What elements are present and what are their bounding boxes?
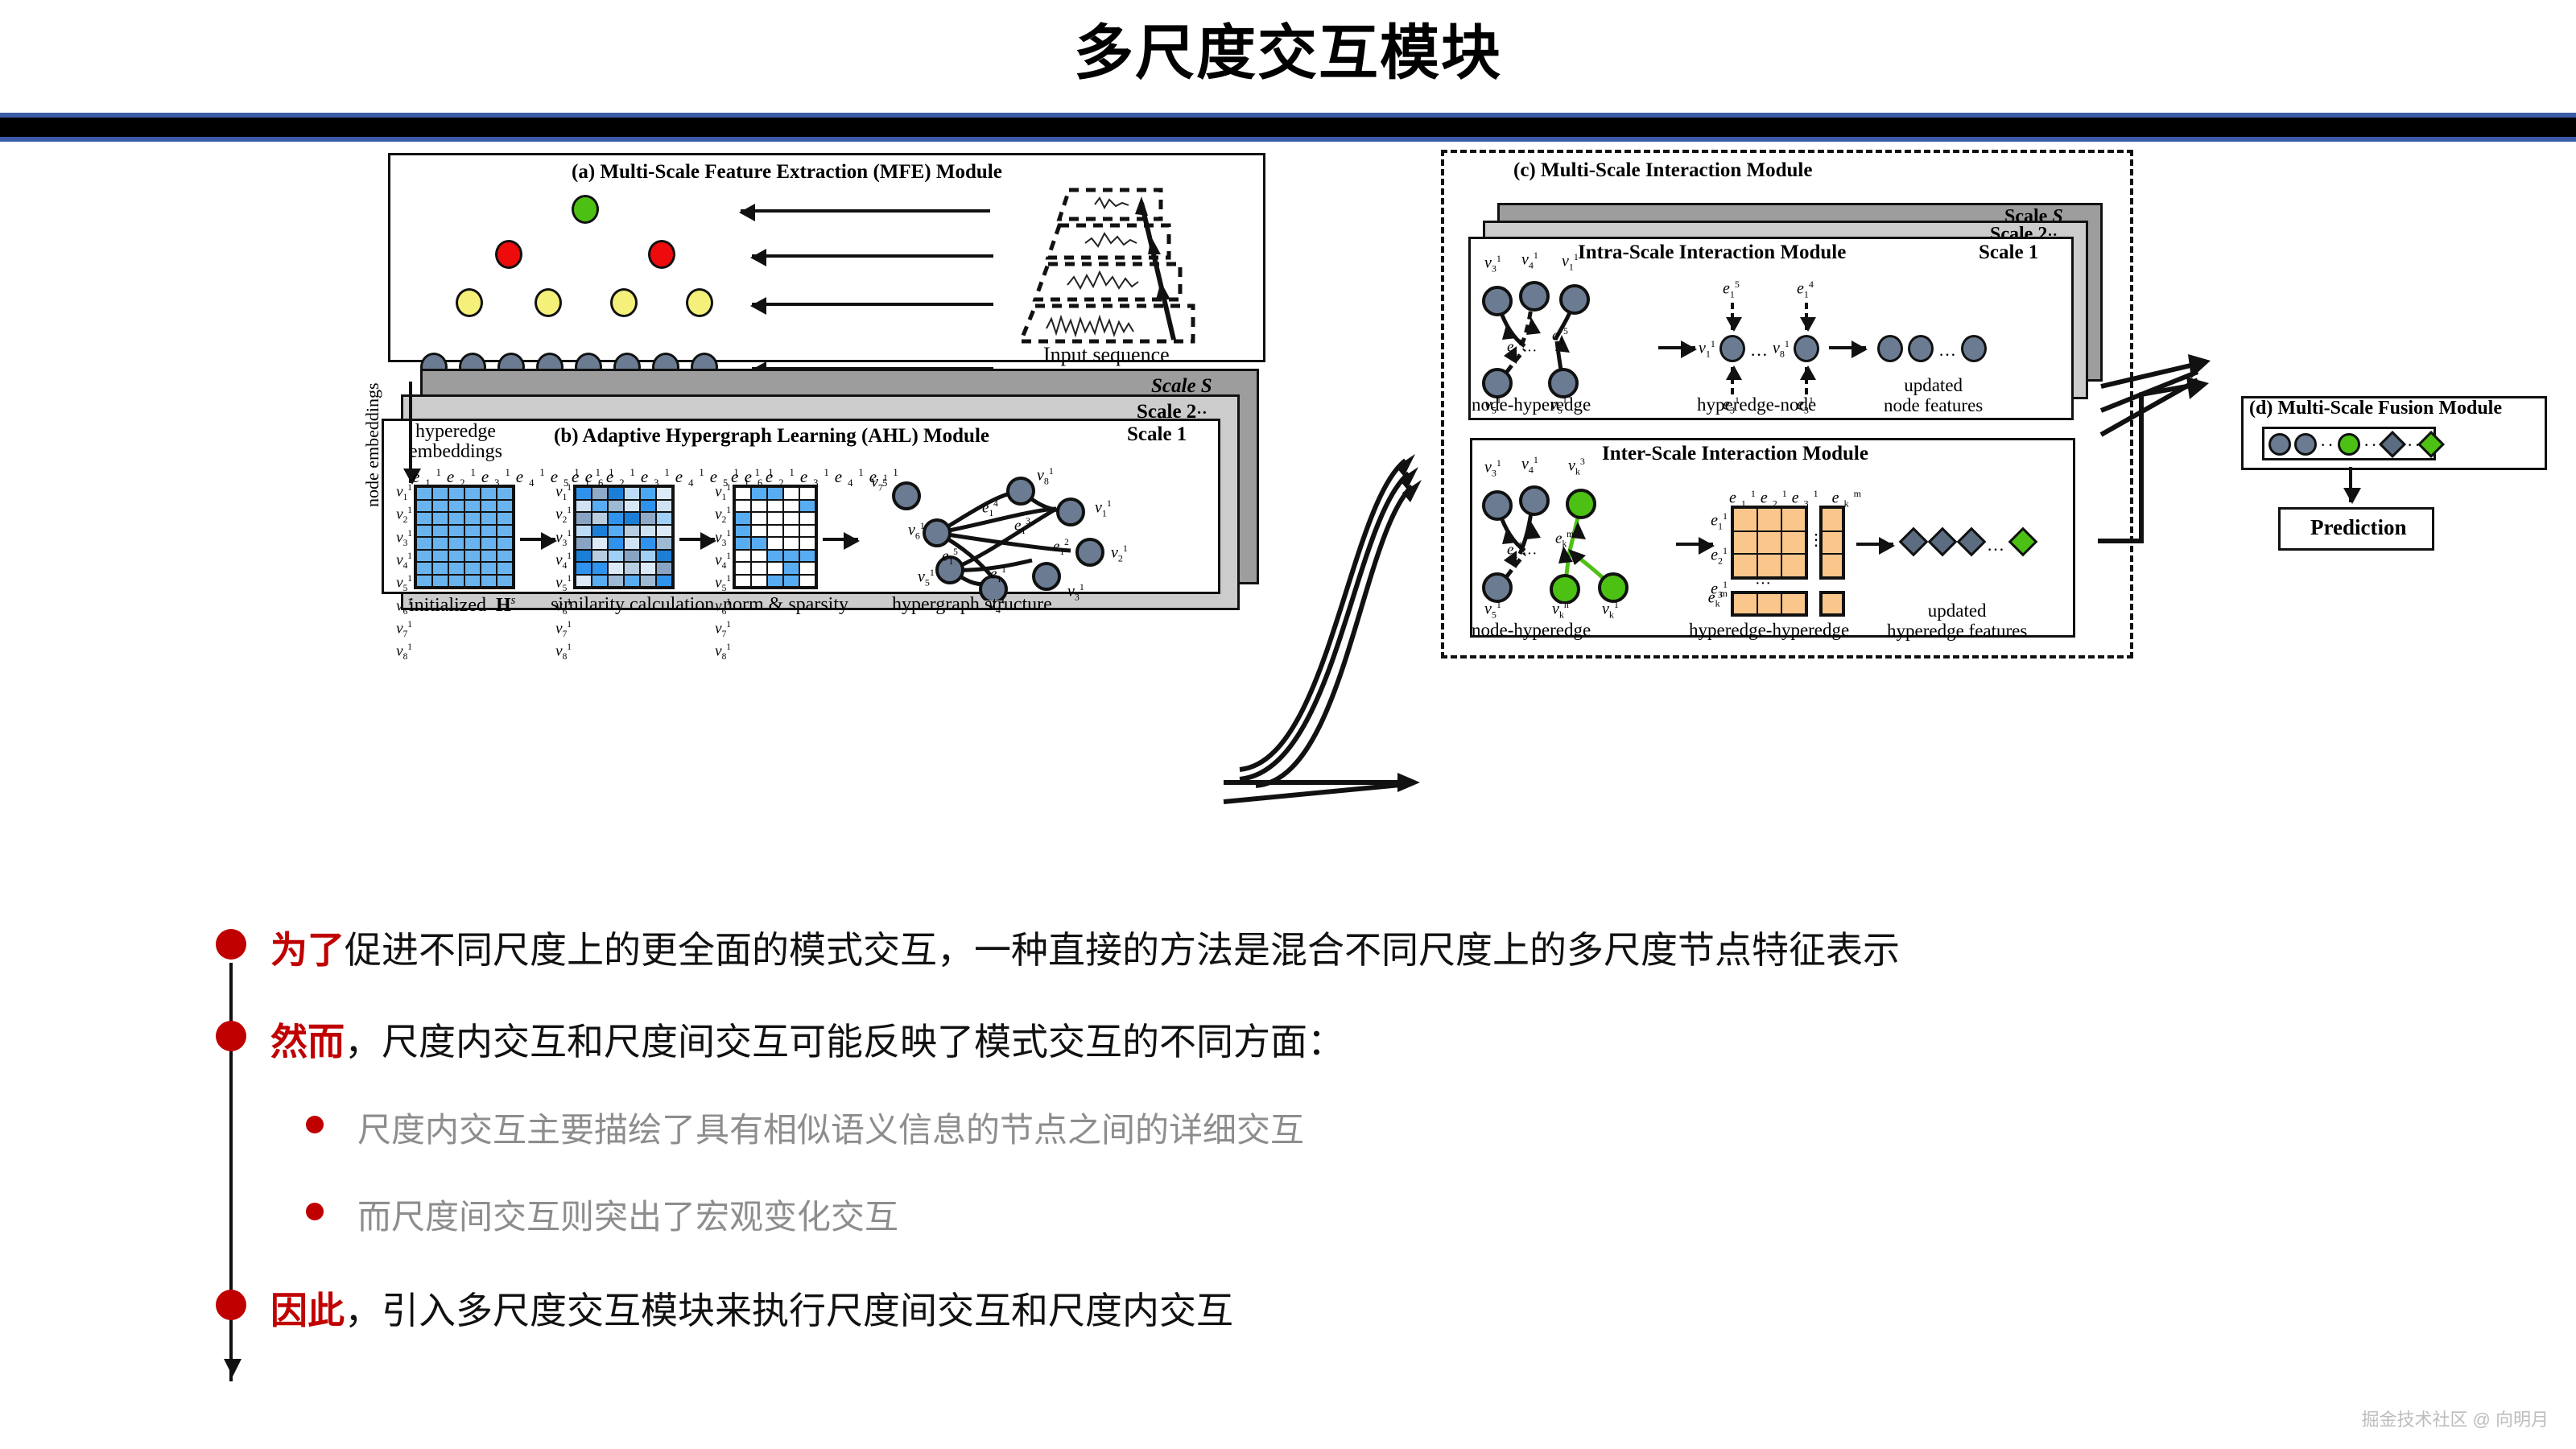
hyperedge-embeddings-label: hyperedgeembeddings (409, 422, 502, 462)
fusion-node-1 (2294, 433, 2317, 456)
bullet-subdot-2 (306, 1203, 324, 1220)
inter-matrix-bottom-row (1731, 591, 1808, 617)
intra-mid-arrow-up-2 (1805, 367, 1808, 394)
inter-label-v5: v51 (1484, 599, 1501, 621)
intra-edge-e1-1: e11… (1507, 338, 1537, 357)
bullet-subdot-1 (306, 1116, 324, 1133)
panel-b-caption: (b) Adaptive Hypergraph Learning (AHL) M… (554, 425, 989, 448)
matrix3-to-graph-arrow (823, 538, 858, 541)
intra-stack-label-1: Scale 1 (1979, 242, 2038, 264)
panel-b-scale-label: Scale 1 (1127, 423, 1187, 446)
intra-caption-updated: updatednode features (1884, 375, 1983, 416)
intra-mid-edge-e1-4: e14 (1797, 279, 1814, 301)
input-pyramid (990, 187, 1232, 348)
inter-updated-ellipsis: … (1987, 535, 2004, 555)
inter-matrix-ellipsis-v: ··· (1755, 575, 1771, 593)
inter-edge-ek-m: ekm (1555, 530, 1574, 549)
inter-node-hyperedge-graph (1480, 475, 1689, 604)
inter-caption-updated: updatedhyperedge features (1887, 601, 2027, 642)
prediction-label: Prediction (2310, 515, 2406, 540)
intra-mid-ellipsis: … (1750, 340, 1768, 361)
graph-label-v1: v11 (1095, 497, 1112, 520)
matrix2-row-labels: v11v21v31v41v51v61v71v81 (544, 481, 572, 664)
intra-edge-e1-5: e15 (1552, 327, 1568, 346)
node-yellow-1 (535, 288, 562, 317)
inter-scale-title: Inter-Scale Interaction Module (1602, 443, 1868, 465)
fusion-dots-1: ·· (2363, 435, 2379, 456)
inter-label-vkn: vkn (1552, 599, 1569, 621)
panel-c-caption: (c) Multi-Scale Interaction Module (1513, 159, 1812, 182)
matrix-similarity-caption: similarity calculation (551, 594, 714, 616)
panel-a-caption: (a) Multi-Scale Feature Extraction (MFE)… (572, 161, 1002, 184)
intra-updated-node-2 (1961, 335, 1987, 362)
watermark: 掘金技术社区 @ 向明月 (2361, 1406, 2549, 1431)
bullet-row-3: 尺度内交互主要描绘了具有相似语义信息的节点之间的详细交互 (0, 1080, 2576, 1167)
bullet-subtext-1: 尺度内交互主要描绘了具有相似语义信息的节点之间的详细交互 (357, 1103, 1304, 1152)
ahl-to-interaction-connectors (1207, 383, 1449, 834)
inter-edge-e1-1: e11… (1507, 541, 1537, 560)
inter-label-v3: v31 (1484, 457, 1501, 480)
intra-mid-node-circle-2 (1794, 335, 1819, 362)
graph-edge-e1-1: e11 (990, 565, 1006, 584)
graph-edge-e1-3: e13 (1014, 517, 1030, 536)
graph-label-v6: v61 (908, 520, 925, 543)
inter-caption-node-hyperedge: node-hyperedge (1472, 620, 1591, 641)
intra-updated-node-1 (1908, 335, 1934, 362)
graph-edge-e1-2: e12 (1053, 538, 1069, 557)
page-title: 多尺度交互模块 (0, 5, 2576, 91)
bullet-rest-3: ，引入多尺度交互模块来执行尺度间交互和尺度内交互 (345, 1290, 1233, 1331)
bullet-text-3: 因此，引入多尺度交互模块来执行尺度间交互和尺度内交互 (270, 1282, 1233, 1335)
inter-label-vk1: vk1 (1602, 599, 1619, 621)
interaction-to-fusion-connectors (2093, 298, 2238, 563)
bullet-row-1: 为了促进不同尺度上的更全面的模式交互，一种直接的方法是混合不同尺度上的多尺度节点… (0, 894, 2576, 987)
graph-label-v8: v81 (1037, 465, 1054, 488)
bullet-rest-2: ，尺度内交互和尺度间交互可能反映了模式交互的不同方面： (345, 1021, 1344, 1063)
matrix-norm-sparsity (733, 485, 818, 589)
node-yellow-2 (610, 288, 638, 317)
graph-label-v2: v21 (1111, 543, 1128, 565)
inter-matrix-corner (1819, 591, 1845, 617)
intra-mid-node-v8: v81 (1773, 338, 1790, 361)
intra-label-v3: v31 (1484, 253, 1501, 275)
bullet-text-1: 为了促进不同尺度上的更全面的模式交互，一种直接的方法是混合不同尺度上的多尺度节点… (270, 921, 1900, 974)
bullet-list: 为了促进不同尺度上的更全面的模式交互，一种直接的方法是混合不同尺度上的多尺度节点… (0, 894, 2576, 1348)
bullet-lead-3: 因此 (270, 1290, 345, 1331)
intra-mid-arrow-up-1 (1731, 367, 1734, 394)
hypergraph-caption: hypergraph structure (892, 594, 1052, 616)
fusion-node-0 (2268, 433, 2291, 456)
inter-caption-hyperedge-hyperedge: hyperedge-hyperedge (1689, 620, 1849, 641)
graph-label-v5: v51 (918, 567, 935, 589)
bullet-rest-1: 促进不同尺度上的更全面的模式交互，一种直接的方法是混合不同尺度上的多尺度节点特征… (345, 929, 1900, 971)
node-red-0 (495, 240, 522, 269)
node-yellow-0 (456, 288, 483, 317)
node-yellow-3 (686, 288, 713, 317)
intra-mid-node-v1: v11 (1699, 338, 1715, 361)
bullet-row-5: 因此，引入多尺度交互模块来执行尺度间交互和尺度内交互 (0, 1254, 2576, 1348)
bullet-lead-1: 为了 (270, 929, 345, 971)
inter-matrix-ellipsis-h: ⋮ (1808, 530, 1824, 550)
intra-node-hyperedge-graph (1480, 270, 1665, 399)
mfe-arrow-0 (741, 209, 990, 213)
node-green-0 (572, 195, 599, 224)
architecture-figure: (a) Multi-Scale Feature Extraction (MFE)… (370, 153, 2222, 861)
intra-arrow-1 (1658, 346, 1695, 349)
graph-label-v3: v31 (1067, 581, 1084, 604)
intra-mid-arrow-down-2 (1805, 303, 1808, 330)
panel-d-caption: (d) Multi-Scale Fusion Module (2249, 398, 2502, 419)
bullet-text-2: 然而，尺度内交互和尺度间交互可能反映了模式交互的不同方面： (270, 1013, 1344, 1066)
matrix-norm-caption: norm & sparsity (723, 594, 848, 616)
intra-caption-node-hyperedge: node-hyperedge (1472, 394, 1591, 415)
intra-scale-title: Intra-Scale Interaction Module (1578, 242, 1846, 264)
inter-arrow-2 (1856, 543, 1893, 546)
node-embeddings-label: node embeddings (362, 382, 383, 507)
intra-mid-edge-e1-5: e15 (1723, 279, 1740, 301)
intra-mid-arrow-down-1 (1731, 303, 1734, 330)
bullet-row-2: 然而，尺度内交互和尺度间交互可能反映了模式交互的不同方面： (0, 987, 2576, 1080)
intra-arrow-2 (1829, 346, 1866, 349)
input-sequence-label: Input sequence (1043, 343, 1170, 367)
graph-edge-e1-5: e15 (942, 547, 958, 567)
title-divider (0, 113, 2576, 142)
matrix-initialized-h (414, 485, 515, 589)
matrix1-row-labels: v11v21v31v41v51v61v71v81 (385, 481, 412, 664)
inter-matrix-main (1731, 506, 1808, 580)
bullet-row-4: 而尺度间交互则突出了宏观变化交互 (0, 1167, 2576, 1254)
mfe-arrow-2 (752, 303, 993, 306)
matrix-similarity (573, 485, 675, 589)
intra-label-v4: v41 (1521, 250, 1538, 272)
intra-updated-node-0 (1877, 335, 1903, 362)
bullet-dot-2 (216, 1021, 246, 1051)
inter-label-v4: v41 (1521, 454, 1538, 477)
bullet-dot-3 (216, 1290, 246, 1320)
bullet-dot-1 (216, 929, 246, 960)
matrix3-row-labels: v11v21v31v41v51v61v71v81 (704, 481, 731, 664)
intra-caption-hyperedge-node: hyperedge-node (1697, 394, 1816, 415)
mfe-arrow-1 (752, 254, 993, 258)
bullet-subtext-2: 而尺度间交互则突出了宏观变化交互 (357, 1190, 898, 1239)
inter-matrix-row-label-km: ekm (1700, 588, 1728, 610)
matrix-initialized-caption: initialized Hs (409, 594, 515, 617)
fusion-to-prediction-arrow (2349, 467, 2352, 502)
graph-label-v7: v71 (871, 472, 888, 494)
intra-updated-ellipsis: … (1938, 340, 1956, 361)
bullet-lead-2: 然而 (270, 1021, 345, 1063)
intra-label-v1: v11 (1562, 251, 1579, 274)
inter-label-vk3: vk3 (1568, 456, 1585, 478)
intra-mid-node-circle-1 (1719, 335, 1745, 362)
graph-edge-e1-4: e14 (982, 499, 998, 518)
fusion-dots-0: ·· (2320, 435, 2335, 456)
fusion-node-green (2338, 433, 2360, 456)
node-red-1 (648, 240, 675, 269)
